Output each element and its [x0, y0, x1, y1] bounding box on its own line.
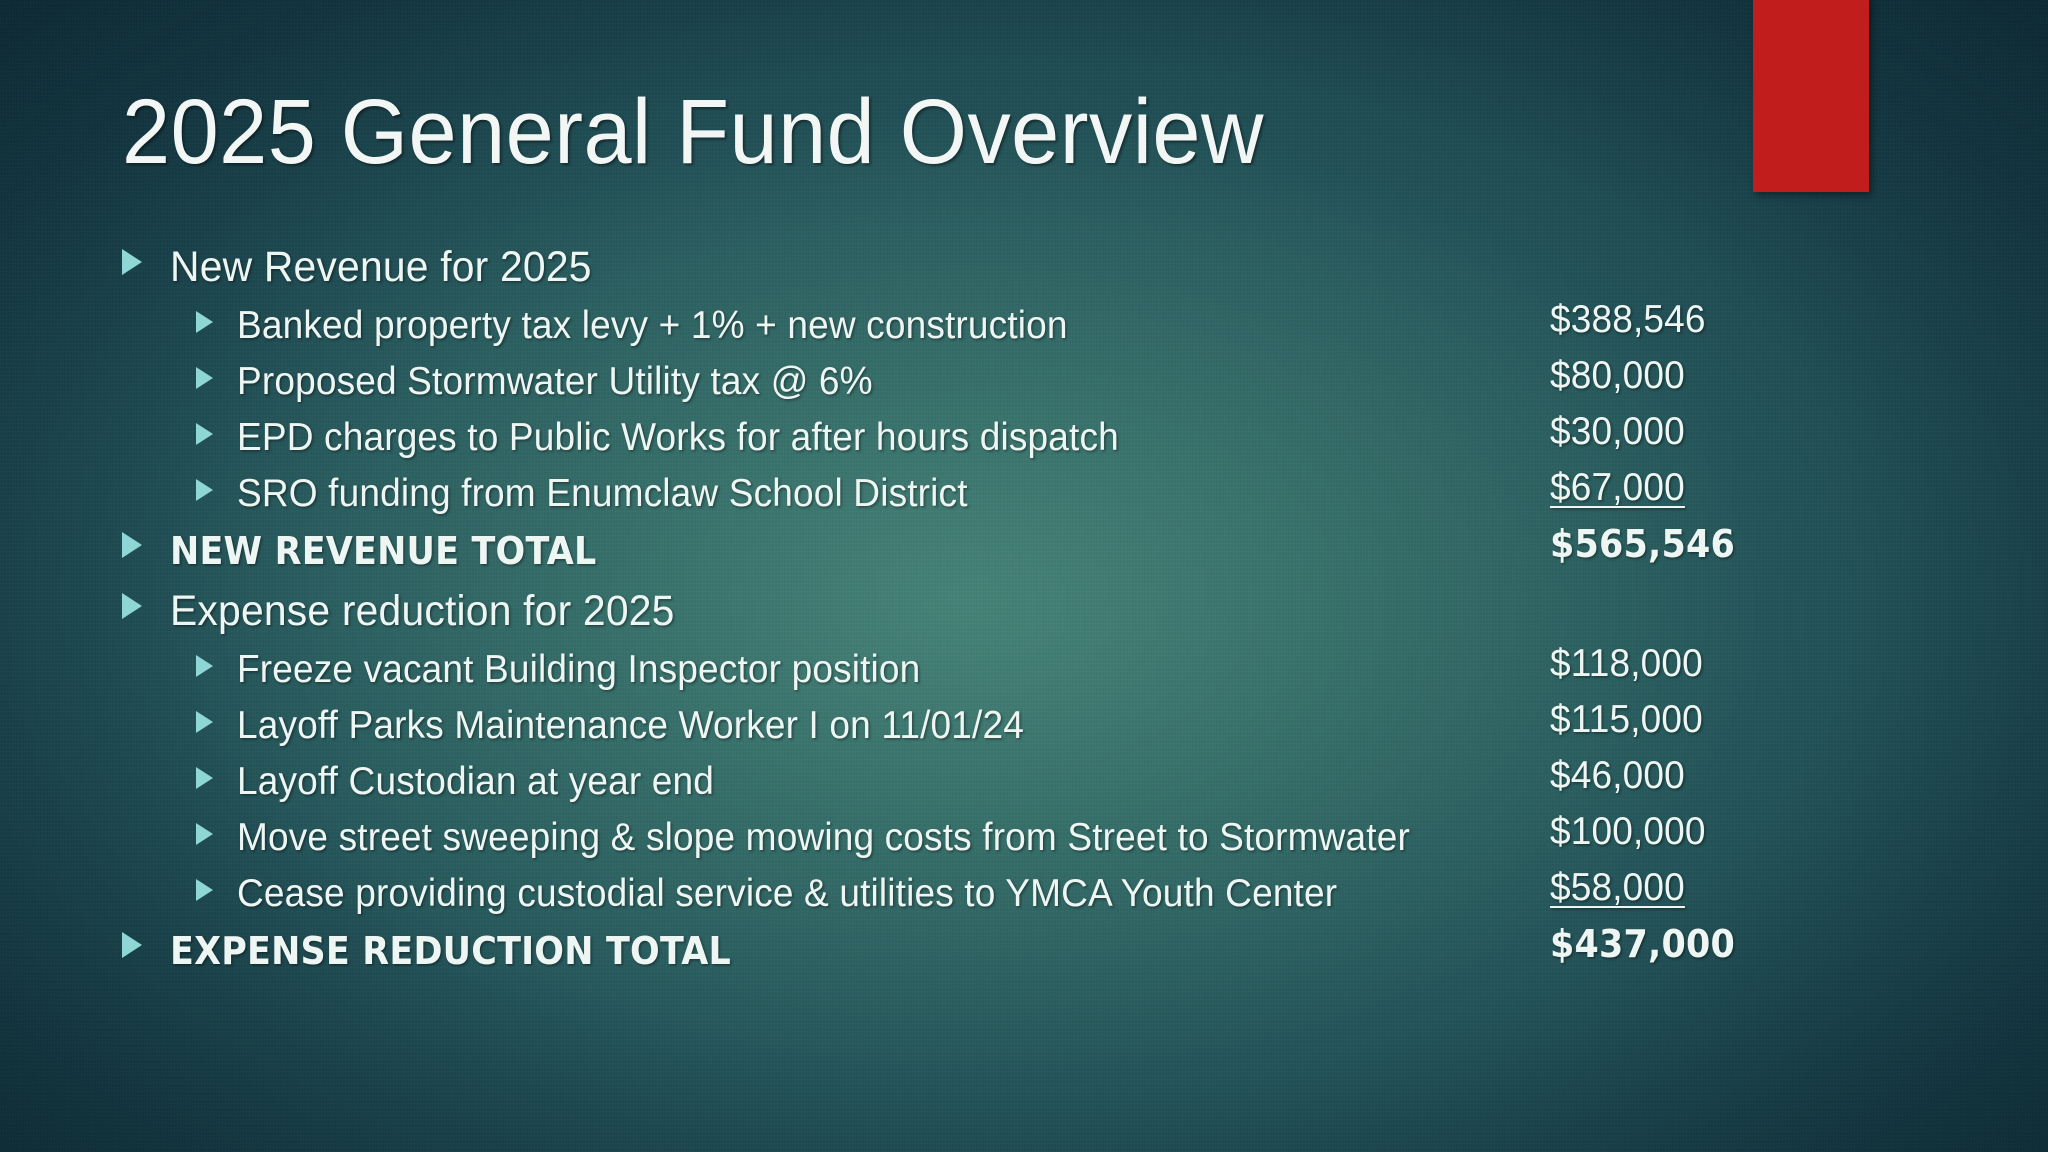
- triangle-bullet-icon: [196, 767, 213, 789]
- list-item: Proposed Stormwater Utility tax @ 6% $80…: [122, 354, 1802, 410]
- list-item-amount: $46,000: [1550, 754, 1685, 798]
- section-total-amount: $437,000: [1550, 922, 1735, 966]
- list-item-amount: $80,000: [1550, 354, 1685, 398]
- section-heading-expense-reduction: Expense reduction for 2025: [122, 582, 1802, 640]
- list-item: Banked property tax levy + 1% + new cons…: [122, 298, 1802, 354]
- list-item: Move street sweeping & slope mowing cost…: [122, 810, 1802, 866]
- section-total-amount: $565,546: [1550, 522, 1735, 566]
- slide-title: 2025 General Fund Overview: [122, 84, 1264, 182]
- list-item-label: Move street sweeping & slope mowing cost…: [237, 810, 1410, 866]
- section-total-label: EXPENSE REDUCTION TOTAL: [170, 922, 731, 980]
- triangle-bullet-icon: [196, 823, 213, 845]
- list-item-label: EPD charges to Public Works for after ho…: [237, 410, 1119, 466]
- presentation-slide: 2025 General Fund Overview New Revenue f…: [0, 0, 2048, 1152]
- list-item: Freeze vacant Building Inspector positio…: [122, 642, 1802, 698]
- list-item: SRO funding from Enumclaw School Distric…: [122, 466, 1802, 522]
- triangle-bullet-icon: [196, 479, 213, 501]
- triangle-bullet-icon: [196, 711, 213, 733]
- list-item-amount: $100,000: [1550, 810, 1706, 854]
- list-item-label: Banked property tax levy + 1% + new cons…: [237, 298, 1068, 354]
- list-item-amount: $115,000: [1550, 698, 1703, 742]
- list-item-amount: $118,000: [1550, 642, 1703, 686]
- slide-body-content: New Revenue for 2025 Banked property tax…: [122, 238, 1802, 982]
- triangle-bullet-icon: [196, 879, 213, 901]
- list-item-label: Cease providing custodial service & util…: [237, 866, 1337, 922]
- triangle-bullet-icon: [122, 249, 142, 275]
- triangle-bullet-icon: [196, 655, 213, 677]
- list-item: Layoff Parks Maintenance Worker I on 11/…: [122, 698, 1802, 754]
- list-item-label: Layoff Parks Maintenance Worker I on 11/…: [237, 698, 1024, 754]
- list-item: Cease providing custodial service & util…: [122, 866, 1802, 922]
- section-total-expense-reduction: EXPENSE REDUCTION TOTAL $437,000: [122, 922, 1802, 980]
- list-item: EPD charges to Public Works for after ho…: [122, 410, 1802, 466]
- list-item-label: SRO funding from Enumclaw School Distric…: [237, 466, 968, 522]
- list-item-label: Freeze vacant Building Inspector positio…: [237, 642, 920, 698]
- triangle-bullet-icon: [122, 532, 142, 558]
- red-accent-bar: [1753, 0, 1869, 192]
- list-item: Layoff Custodian at year end $46,000: [122, 754, 1802, 810]
- list-item-label: Layoff Custodian at year end: [237, 754, 714, 810]
- list-item-label: Proposed Stormwater Utility tax @ 6%: [237, 354, 873, 410]
- triangle-bullet-icon: [196, 311, 213, 333]
- list-item-amount: $58,000: [1550, 866, 1685, 910]
- section-heading-new-revenue: New Revenue for 2025: [122, 238, 1802, 296]
- triangle-bullet-icon: [196, 423, 213, 445]
- triangle-bullet-icon: [122, 593, 142, 619]
- triangle-bullet-icon: [196, 367, 213, 389]
- list-item-amount: $67,000: [1550, 466, 1685, 510]
- section-total-new-revenue: NEW REVENUE TOTAL $565,546: [122, 522, 1802, 580]
- triangle-bullet-icon: [122, 932, 142, 958]
- list-item-amount: $388,546: [1550, 298, 1706, 342]
- list-item-amount: $30,000: [1550, 410, 1685, 454]
- section-heading-label: Expense reduction for 2025: [170, 582, 675, 640]
- section-heading-label: New Revenue for 2025: [170, 238, 592, 296]
- section-total-label: NEW REVENUE TOTAL: [170, 522, 596, 580]
